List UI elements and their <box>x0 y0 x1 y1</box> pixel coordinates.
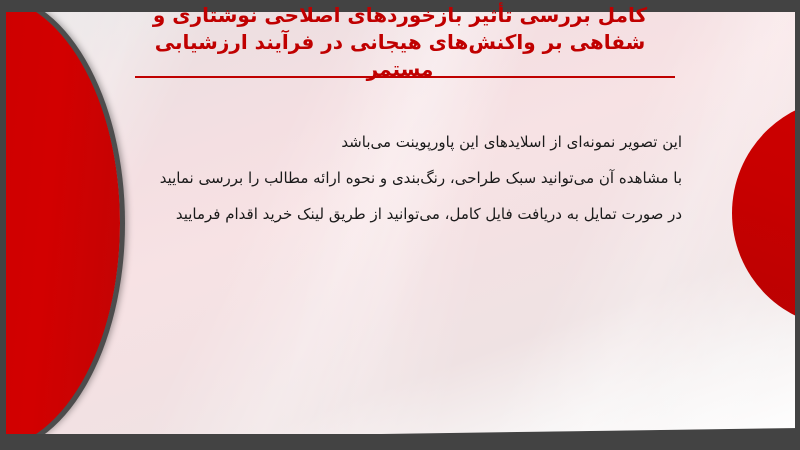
slide-body-text: این تصویر نمونه‌ای از اسلایدهای این پاور… <box>82 124 682 232</box>
title-divider-rule <box>135 76 675 78</box>
title-line-1: کامل بررسی تأثیر بازخوردهای اصلاحی نوشتا… <box>0 2 800 29</box>
title-line-3: مستمر <box>0 56 800 83</box>
frame-band-bottom <box>0 434 800 450</box>
title-line-2: شفاهی بر واکنش‌های هیجانی در فرآیند ارزش… <box>0 29 800 56</box>
slide-title: کامل بررسی تأثیر بازخوردهای اصلاحی نوشتا… <box>0 2 800 83</box>
presentation-slide: کامل بررسی تأثیر بازخوردهای اصلاحی نوشتا… <box>0 0 800 450</box>
body-line-3: در صورت تمایل به دریافت فایل کامل، می‌تو… <box>82 196 682 232</box>
body-line-1: این تصویر نمونه‌ای از اسلایدهای این پاور… <box>82 124 682 160</box>
body-line-2: با مشاهده آن می‌توانید سبک طراحی، رنگ‌بن… <box>82 160 682 196</box>
